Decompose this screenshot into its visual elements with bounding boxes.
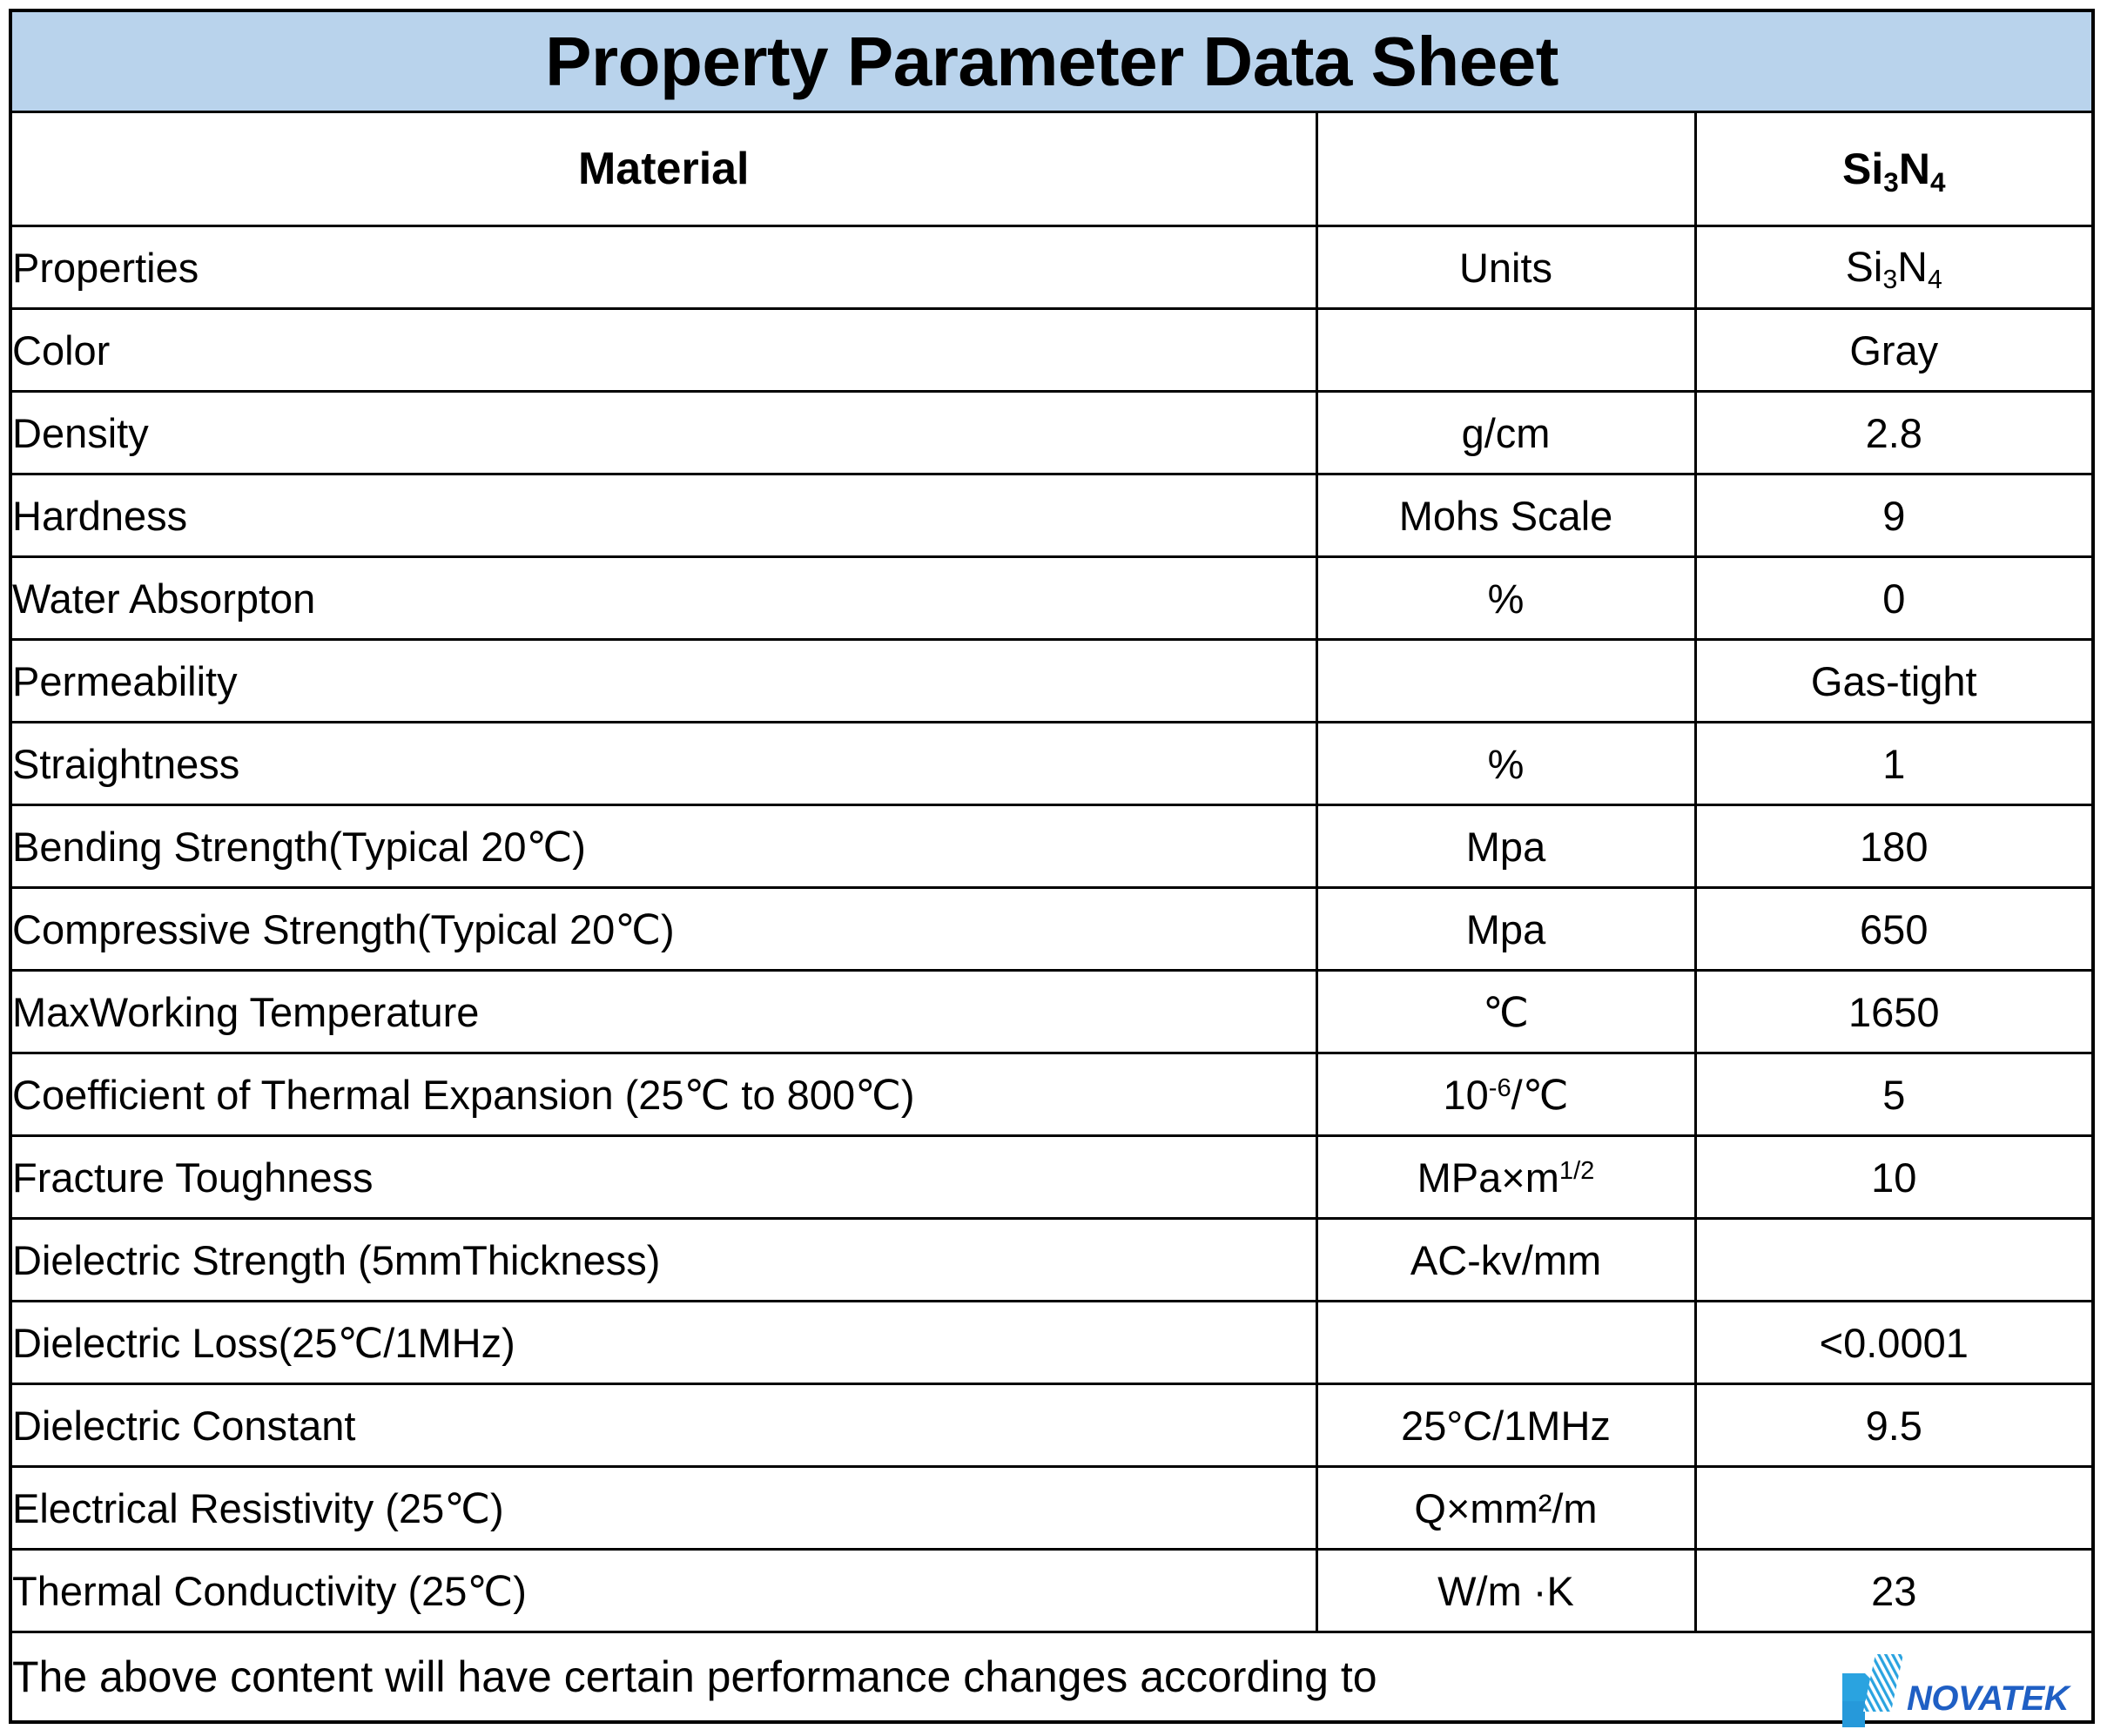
row-value: <0.0001 xyxy=(1695,1302,2093,1384)
row-units-value: Units xyxy=(1316,226,1695,309)
row-value xyxy=(1695,1219,2093,1302)
value-formula-si-count: 3 xyxy=(1882,266,1897,294)
row-units-value xyxy=(1316,309,1695,392)
row-property-label: Coefficient of Thermal Expansion (25℃ to… xyxy=(10,1053,1316,1136)
row-property-label: Color xyxy=(10,309,1316,392)
table-row: Dielectric Loss(25℃/1MHz) <0.0001 xyxy=(10,1302,2093,1384)
value-formula: Si3N4 xyxy=(1846,245,1942,291)
formula-n: N xyxy=(1899,145,1930,193)
row-units-value: Mpa xyxy=(1316,805,1695,888)
data-sheet-page: Property Parameter Data Sheet Material S… xyxy=(0,0,2107,1736)
row-value: 9 xyxy=(1695,474,2093,557)
material-formula: Si3N4 xyxy=(1697,147,2092,191)
formula-si-count: 3 xyxy=(1883,166,1899,198)
row-value: Gray xyxy=(1695,309,2093,392)
row-units-value xyxy=(1316,640,1695,723)
table-row: Electrical Resistivity (25℃) Q×mm²/m xyxy=(10,1467,2093,1550)
row-property-label: MaxWorking Temperature xyxy=(10,971,1316,1053)
table-row: Water Absorpton % 0 xyxy=(10,557,2093,640)
formula-si: Si xyxy=(1842,145,1883,193)
row-property-label: Dielectric Constant xyxy=(10,1384,1316,1467)
row-property-label: Bending Strength(Typical 20℃) xyxy=(10,805,1316,888)
formula-n-count: 4 xyxy=(1930,166,1946,198)
value-formula-si: Si xyxy=(1846,245,1883,291)
row-units-value: g/cm xyxy=(1316,392,1695,474)
row-units-value: W/m ·K xyxy=(1316,1550,1695,1632)
table-row: Dielectric Strength (5mmThickness) AC-kv… xyxy=(10,1219,2093,1302)
table-row: Permeability Gas-tight xyxy=(10,640,2093,723)
table-row: Color Gray xyxy=(10,309,2093,392)
row-value: Gas-tight xyxy=(1695,640,2093,723)
row-units-value: 25°C/1MHz xyxy=(1316,1384,1695,1467)
row-value: 1 xyxy=(1695,723,2093,805)
table-row: Properties Units Si3N4 xyxy=(10,226,2093,309)
table-row: Compressive Strength(Typical 20℃) Mpa 65… xyxy=(10,888,2093,971)
row-property-label: Permeability xyxy=(10,640,1316,723)
row-units-value: ℃ xyxy=(1316,971,1695,1053)
row-value: Si3N4 xyxy=(1695,226,2093,309)
row-value: 9.5 xyxy=(1695,1384,2093,1467)
property-parameter-table: Property Parameter Data Sheet Material S… xyxy=(9,9,2095,1724)
row-property-label: Thermal Conductivity (25℃) xyxy=(10,1550,1316,1632)
table-row: Straightness % 1 xyxy=(10,723,2093,805)
units-base: 10 xyxy=(1443,1072,1488,1118)
row-value: 1650 xyxy=(1695,971,2093,1053)
row-property-label: Electrical Resistivity (25℃) xyxy=(10,1467,1316,1550)
row-property-label: Density xyxy=(10,392,1316,474)
sheet-title-cell: Property Parameter Data Sheet xyxy=(10,10,2093,112)
row-units-value: Mpa xyxy=(1316,888,1695,971)
table-row: MaxWorking Temperature ℃ 1650 xyxy=(10,971,2093,1053)
row-property-label: Compressive Strength(Typical 20℃) xyxy=(10,888,1316,971)
row-property-label: Fracture Toughness xyxy=(10,1136,1316,1219)
value-formula-n: N xyxy=(1897,245,1928,291)
title-row: Property Parameter Data Sheet xyxy=(10,10,2093,112)
row-property-label: Properties xyxy=(10,226,1316,309)
row-value: 2.8 xyxy=(1695,392,2093,474)
material-header-label: Material xyxy=(578,144,750,194)
material-header-formula-cell: Si3N4 xyxy=(1695,112,2093,226)
row-units-value: AC-kv/mm xyxy=(1316,1219,1695,1302)
row-property-label: Dielectric Loss(25℃/1MHz) xyxy=(10,1302,1316,1384)
table-row: Fracture Toughness MPa×m1/2 10 xyxy=(10,1136,2093,1219)
table-row: Bending Strength(Typical 20℃) Mpa 180 xyxy=(10,805,2093,888)
footer-note-cell: The above content will have certain perf… xyxy=(10,1632,2093,1723)
row-units-value xyxy=(1316,1302,1695,1384)
row-units-value: Mohs Scale xyxy=(1316,474,1695,557)
row-property-label: Dielectric Strength (5mmThickness) xyxy=(10,1219,1316,1302)
row-property-label: Straightness xyxy=(10,723,1316,805)
row-value: 650 xyxy=(1695,888,2093,971)
row-units-value: MPa×m1/2 xyxy=(1316,1136,1695,1219)
material-header-units-cell xyxy=(1316,112,1695,226)
units-superscript: 1/2 xyxy=(1559,1157,1595,1185)
table-row: Hardness Mohs Scale 9 xyxy=(10,474,2093,557)
row-property-label: Hardness xyxy=(10,474,1316,557)
row-value: 10 xyxy=(1695,1136,2093,1219)
row-value: 0 xyxy=(1695,557,2093,640)
units-tail: /℃ xyxy=(1511,1072,1569,1118)
table-row: Thermal Conductivity (25℃) W/m ·K 23 xyxy=(10,1550,2093,1632)
row-value: 180 xyxy=(1695,805,2093,888)
table-body: Property Parameter Data Sheet Material S… xyxy=(10,10,2093,1722)
value-formula-n-count: 4 xyxy=(1928,266,1942,294)
page-title: Property Parameter Data Sheet xyxy=(545,23,1558,100)
footer-row: The above content will have certain perf… xyxy=(10,1632,2093,1723)
table-row: Density g/cm 2.8 xyxy=(10,392,2093,474)
row-units-value: % xyxy=(1316,723,1695,805)
row-property-label: Water Absorpton xyxy=(10,557,1316,640)
table-row: Coefficient of Thermal Expansion (25℃ to… xyxy=(10,1053,2093,1136)
material-header-row: Material Si3N4 xyxy=(10,112,2093,226)
row-units-value: 10-6/℃ xyxy=(1316,1053,1695,1136)
row-value xyxy=(1695,1467,2093,1550)
footer-note: The above content will have certain perf… xyxy=(12,1652,1377,1701)
row-units-value: Q×mm²/m xyxy=(1316,1467,1695,1550)
material-header-cell: Material xyxy=(10,112,1316,226)
table-row: Dielectric Constant 25°C/1MHz 9.5 xyxy=(10,1384,2093,1467)
units-base: MPa×m xyxy=(1417,1154,1559,1201)
row-units-value: % xyxy=(1316,557,1695,640)
row-value: 5 xyxy=(1695,1053,2093,1136)
row-value: 23 xyxy=(1695,1550,2093,1632)
units-superscript: -6 xyxy=(1489,1074,1511,1102)
